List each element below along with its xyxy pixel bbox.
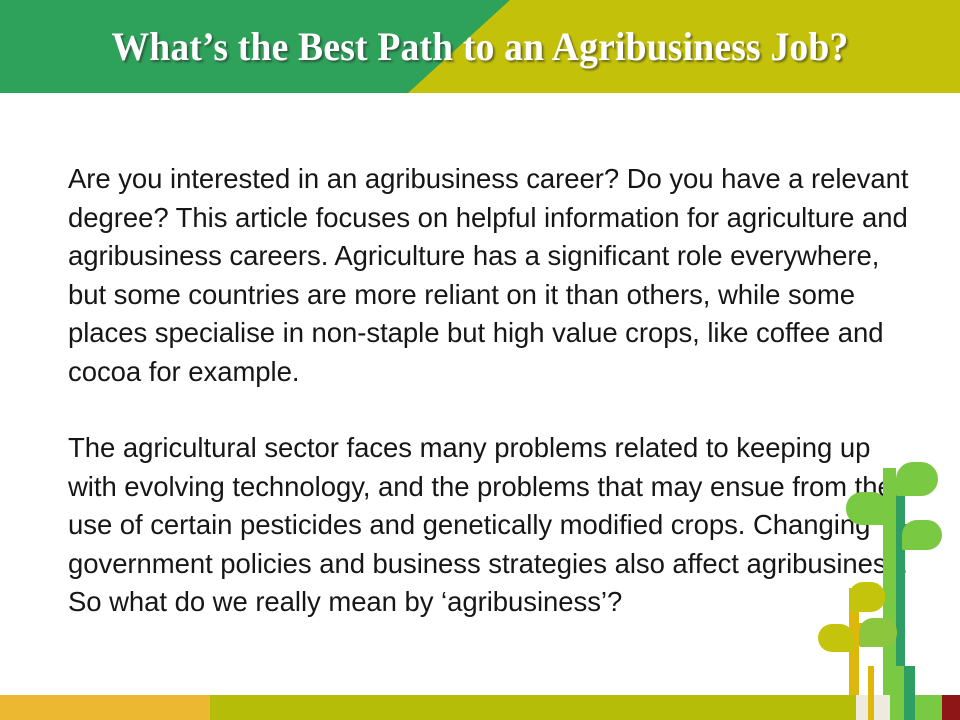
- paragraph-1: Are you interested in an agribusiness ca…: [68, 160, 924, 391]
- header-banner: What’s the Best Path to an Agribusiness …: [0, 0, 960, 93]
- body-content: Are you interested in an agribusiness ca…: [68, 160, 924, 622]
- green-sprout-leaf-middle-right-icon: [902, 520, 942, 550]
- footer-segment-light-green-right: [915, 695, 942, 720]
- page-title: What’s the Best Path to an Agribusiness …: [29, 0, 931, 93]
- olive-sprout-leaf-top-icon: [849, 582, 885, 612]
- footer-segment-orange: [0, 695, 210, 720]
- footer-segment-dark-green: [904, 695, 915, 720]
- footer-segment-cream-left: [856, 695, 868, 720]
- footer-segment-light-green-left: [890, 695, 904, 720]
- footer-segment-olive: [210, 695, 856, 720]
- olive-sprout-leaf-left-icon: [818, 624, 854, 652]
- green-stem-accent-tail: [904, 666, 915, 695]
- green-sprout-leaf-top-right-icon: [896, 462, 938, 496]
- footer-segment-cream-right: [874, 695, 890, 720]
- olive-stem-tail: [868, 666, 874, 695]
- slide: What’s the Best Path to an Agribusiness …: [0, 0, 960, 720]
- green-stem-tail: [890, 666, 904, 695]
- paragraph-2: The agricultural sector faces many probl…: [68, 429, 924, 622]
- plant-decoration-group: [824, 440, 960, 698]
- green-sprout-leaf-top-left-icon: [846, 492, 888, 525]
- olive-sprout-leaf-right-icon: [859, 618, 897, 647]
- footer-segment-red: [942, 695, 960, 720]
- footer-bar: [0, 695, 960, 720]
